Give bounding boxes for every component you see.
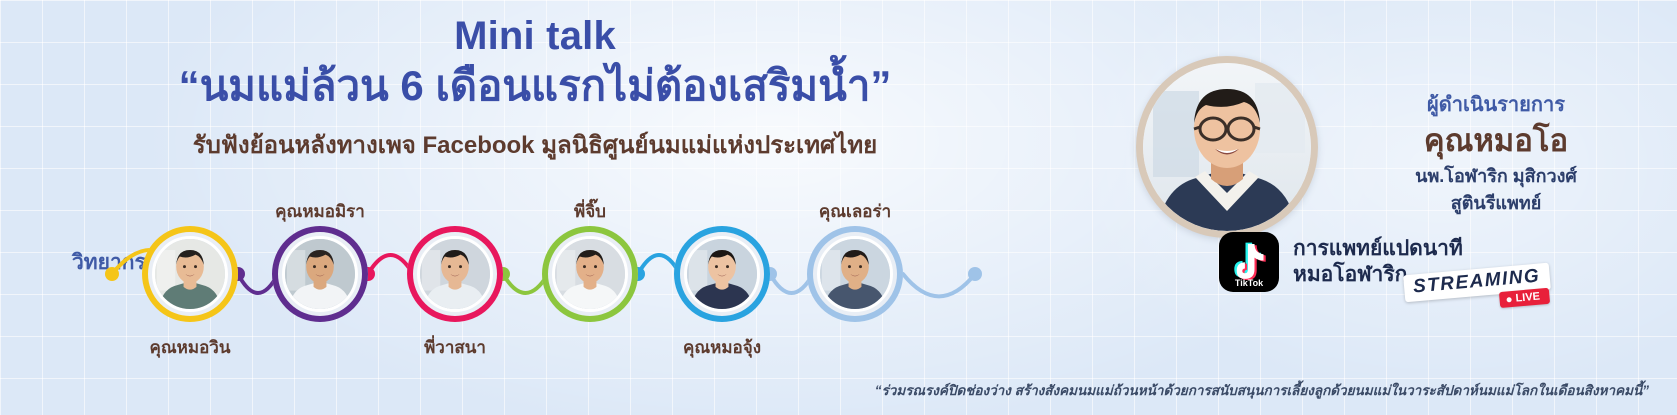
speaker-avatar[interactable]	[674, 226, 770, 322]
speaker-avatar[interactable]	[407, 226, 503, 322]
host-avatar	[1136, 56, 1318, 238]
speaker-name-label: พี่วาสนา	[360, 334, 550, 361]
speaker-ring	[542, 226, 638, 322]
tiktok-caption-line1: การแพทย์แปดนาที	[1293, 236, 1463, 262]
speaker-avatar[interactable]	[272, 226, 368, 322]
speaker-name-label: พี่จิ๊บ	[495, 198, 685, 225]
speaker-name-label: คุณหมอมิรา	[225, 198, 415, 225]
speaker-ring	[272, 226, 368, 322]
title-quote: “นมแม่ล้วน 6 เดือนแรกไม่ต้องเสริมน้ำ”	[0, 61, 1070, 111]
tiktok-icon[interactable]: TikTok	[1219, 232, 1279, 292]
speaker-ring	[807, 226, 903, 322]
speaker-ring	[142, 226, 238, 322]
tiktok-wordmark: TikTok	[1219, 278, 1279, 288]
live-label: LIVE	[1515, 291, 1540, 305]
page-title: Mini talk	[0, 14, 1070, 59]
headline-block: Mini talk “นมแม่ล้วน 6 เดือนแรกไม่ต้องเส…	[0, 14, 1070, 164]
host-specialty: สูตินรีแพทย์	[1320, 192, 1672, 215]
footer-caption: “ร่วมรณรงค์ปิดช่องว่าง สร้างสังคมนมแม่ถ้…	[0, 379, 1649, 401]
promo-banner: Mini talk “นมแม่ล้วน 6 เดือนแรกไม่ต้องเส…	[0, 0, 1677, 415]
host-role-label: ผู้ดำเนินรายการ	[1320, 88, 1672, 120]
host-info-block: ผู้ดำเนินรายการ คุณหมอโอ นพ.โอฬาริก มุสิ…	[1320, 88, 1672, 215]
host-photo	[1143, 63, 1311, 231]
live-dot-icon	[1506, 297, 1511, 302]
subtitle: รับฟังย้อนหลังทางเพจ Facebook มูลนิธิศูน…	[0, 125, 1070, 164]
host-full-name: นพ.โอฬาริก มุสิกวงศ์	[1320, 165, 1672, 188]
timeline-dot	[968, 267, 982, 281]
speaker-avatar[interactable]	[807, 226, 903, 322]
host-name: คุณหมอโอ	[1320, 122, 1672, 161]
speaker-name-label: คุณเลอร่า	[760, 198, 950, 225]
speaker-timeline: วิทยากร คุณหมอวินคุณหมอมิราพี่วาสนาพี่จิ…	[0, 178, 1070, 348]
host-portrait-illustration	[1143, 63, 1311, 231]
speaker-ring	[407, 226, 503, 322]
speaker-avatar[interactable]	[542, 226, 638, 322]
speaker-name-label: คุณหมอจุ้ง	[627, 334, 817, 361]
timeline-dot	[105, 267, 119, 281]
speaker-ring	[674, 226, 770, 322]
timeline-arc	[903, 274, 975, 296]
speaker-avatar[interactable]	[142, 226, 238, 322]
speaker-name-label: คุณหมอวิน	[95, 334, 285, 361]
